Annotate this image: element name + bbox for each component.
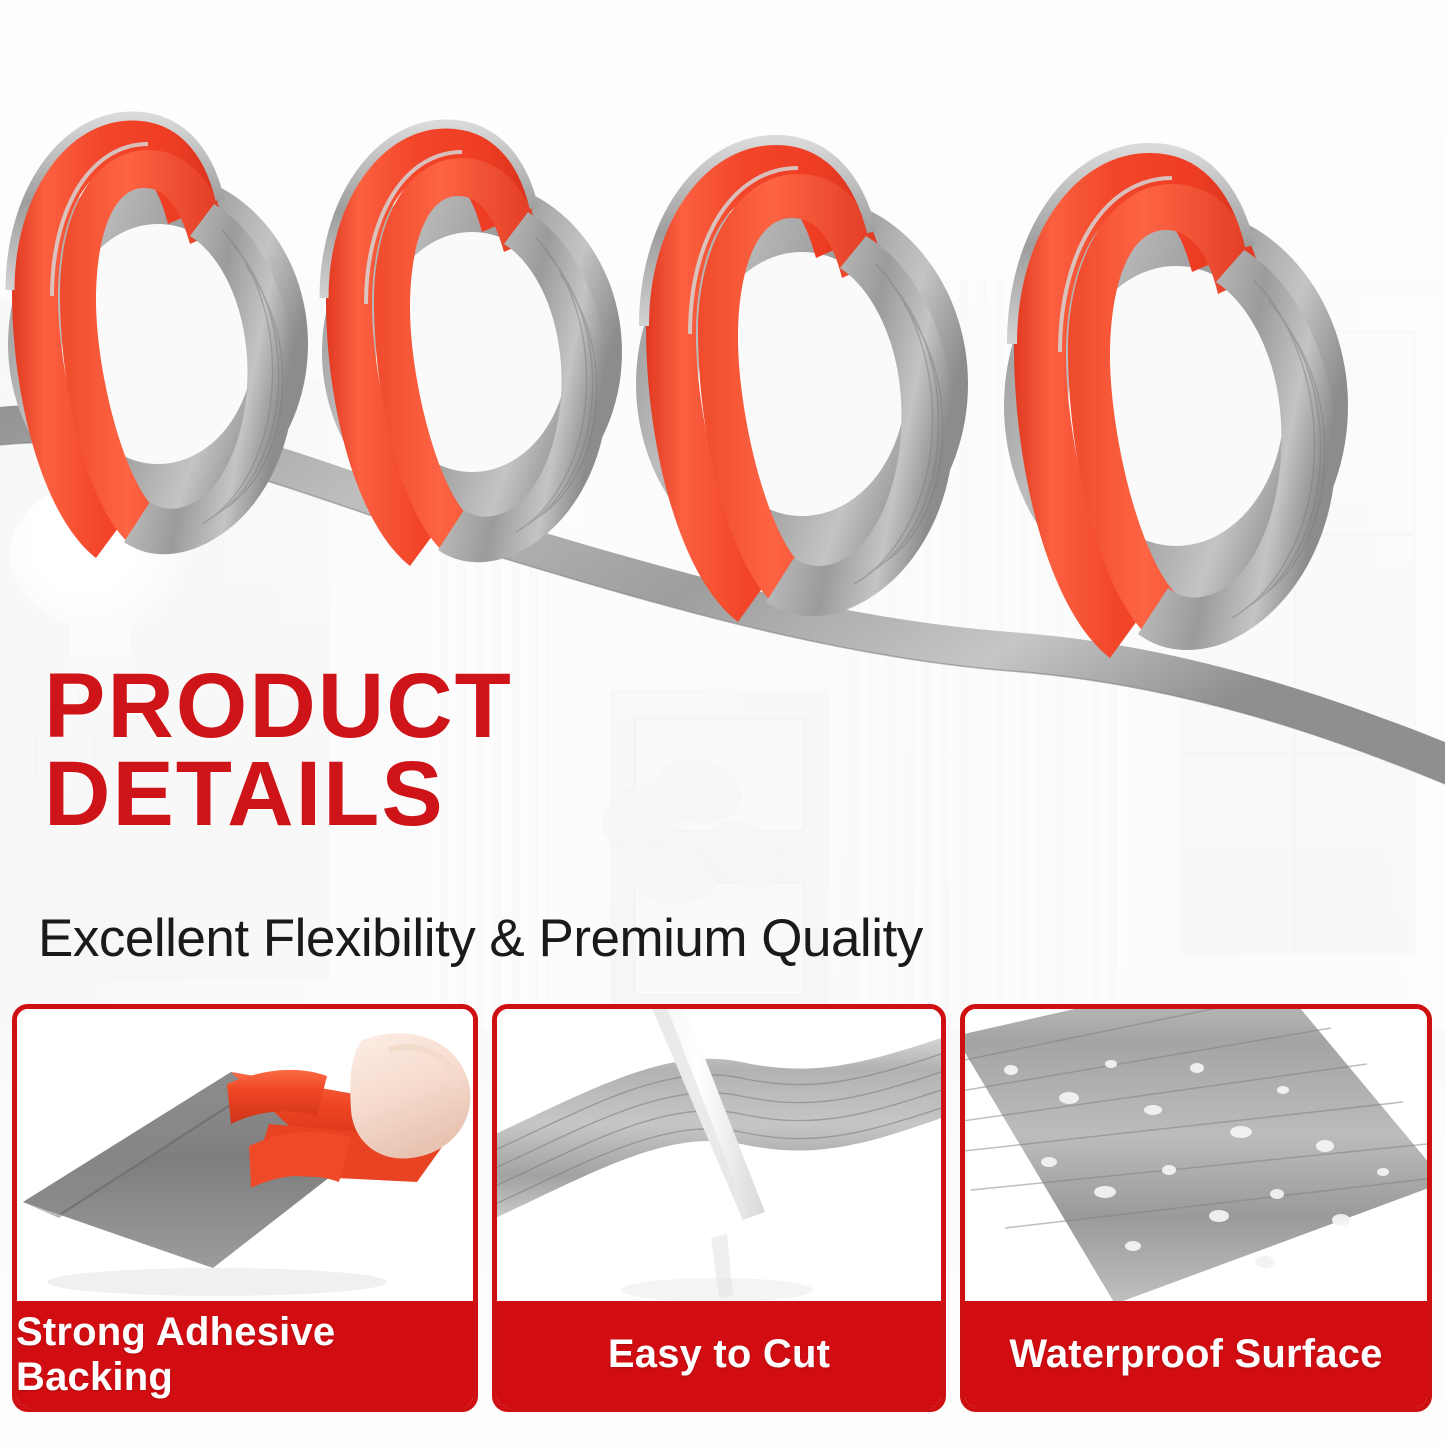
adhesive-backing-illustration (17, 1009, 473, 1301)
waterproof-surface-illustration (965, 1009, 1427, 1301)
product-details-infographic: PRODUCT DETAILS Excellent Flexibility & … (0, 0, 1445, 1445)
feature-panels: Strong Adhesive Backing (0, 1004, 1445, 1416)
coil-4 (1004, 148, 1348, 658)
headline-line-1: PRODUCT (44, 662, 804, 750)
feature-photo-adhesive (17, 1009, 473, 1301)
headline-line-2: DETAILS (44, 750, 804, 838)
headline-block: PRODUCT DETAILS (44, 662, 804, 839)
coil-3 (636, 140, 968, 622)
coil-1 (8, 116, 308, 558)
feature-photo-waterproof (965, 1009, 1427, 1301)
subtitle-text: Excellent Flexibility & Premium Quality (38, 908, 1158, 969)
easy-to-cut-illustration (497, 1009, 941, 1301)
feature-panel-waterproof: Waterproof Surface (960, 1004, 1432, 1412)
feature-caption-cut: Easy to Cut (496, 1301, 942, 1408)
feature-caption-waterproof: Waterproof Surface (964, 1301, 1428, 1408)
feature-caption-adhesive: Strong Adhesive Backing (16, 1301, 474, 1408)
feature-panel-adhesive: Strong Adhesive Backing (12, 1004, 478, 1412)
coil-2 (322, 124, 622, 566)
feature-panel-cut: Easy to Cut (492, 1004, 946, 1412)
feature-photo-cut (497, 1009, 941, 1301)
